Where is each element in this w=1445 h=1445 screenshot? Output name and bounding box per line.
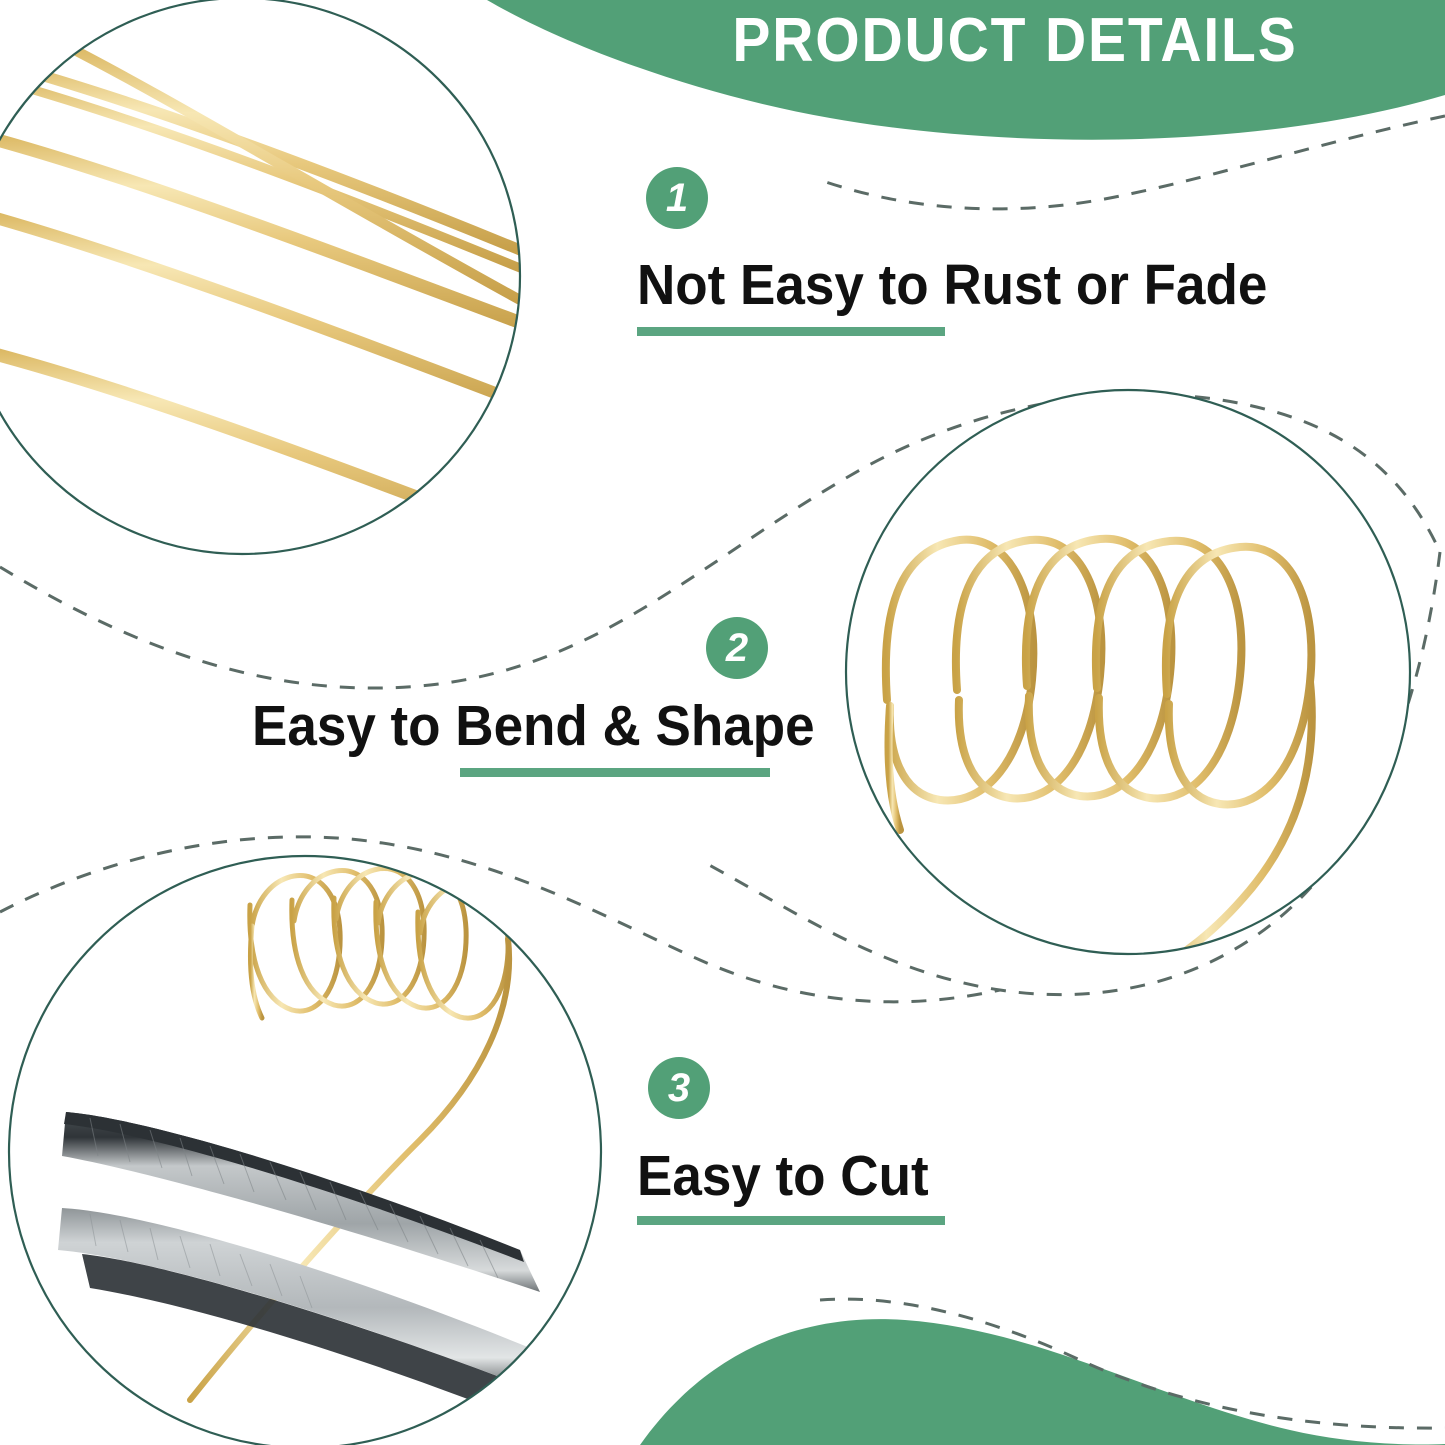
photo-gold-wire-strands [0,0,580,590]
feature-number-badge-1: 1 [646,167,708,229]
feature-title-1: Not Easy to Rust or Fade [637,257,1267,314]
feature-number-badge-3: 3 [648,1057,710,1119]
feature-underline-2 [460,768,770,777]
feature-underline-3 [637,1216,945,1225]
feature-number-badge-2: 2 [706,617,768,679]
photo-gold-wire-coil [840,384,1420,972]
feature-underline-1 [637,327,945,336]
page-title: PRODUCT DETAILS [652,8,1379,73]
footer-wave-shape [640,1319,1445,1445]
feature-title-3: Easy to Cut [637,1148,929,1205]
feature-title-2: Easy to Bend & Shape [252,698,815,755]
product-details-infographic: PRODUCT DETAILS 1 Not Easy to Rust or Fa… [0,0,1445,1445]
photo-wire-cutter-pliers [8,855,608,1445]
